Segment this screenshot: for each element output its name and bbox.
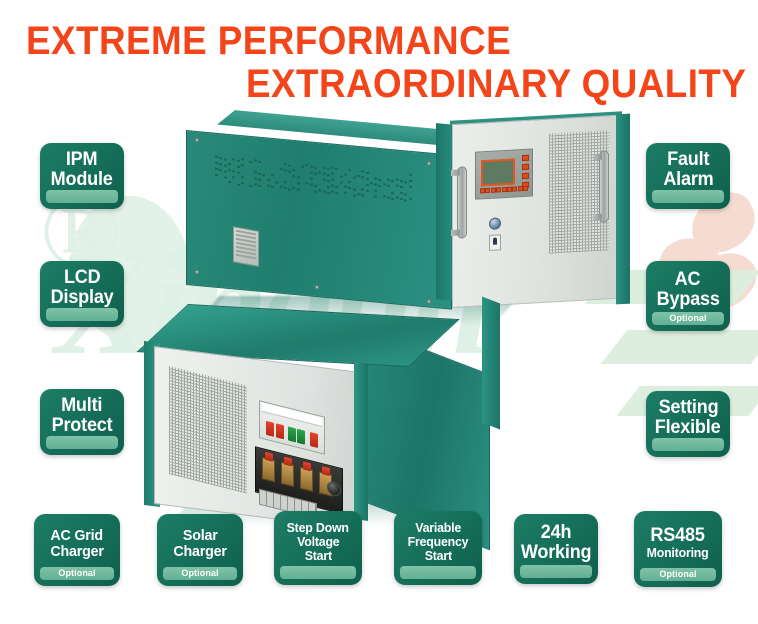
lcd-button[interactable] (522, 173, 529, 179)
badge-accent-bar (46, 190, 118, 203)
badge-text-line: AC Grid (51, 528, 104, 544)
badge-text-line: Monitoring (647, 546, 709, 560)
optional-badge-bar: Optional (652, 312, 724, 325)
badge-label-group: FaultAlarm (646, 150, 730, 190)
screw-icon (427, 161, 431, 165)
badge-text-line: RS485 (651, 526, 705, 546)
bottom-unit-frame-right (354, 363, 368, 521)
badge-text-line: Multi (61, 396, 102, 416)
badge-label-group: VariableFrequencyStart (394, 518, 482, 566)
badge-text-line: Bypass (656, 290, 719, 310)
badge-text-line: 24h (541, 523, 572, 543)
badge-text-line: Step Down (287, 521, 349, 535)
badge-text-line: Solar (183, 528, 218, 544)
top-unit-vent-holes (215, 156, 415, 209)
screw-icon (195, 270, 199, 274)
optional-badge-bar: Optional (640, 568, 716, 581)
breaker-switch[interactable] (288, 426, 296, 442)
headline-line-2: EXTRAORDINARY QUALITY (246, 62, 746, 106)
badge-text-line: Fault (667, 150, 709, 170)
power-connector-icon (489, 217, 501, 230)
badge-text-line: Alarm (663, 170, 713, 190)
feature-badge-variable-frequency-start[interactable]: VariableFrequencyStart (394, 511, 482, 585)
badge-label-group: Step DownVoltageStart (274, 518, 362, 566)
badge-text-line: Protect (52, 416, 113, 436)
product-image-inverter-rear (150, 304, 570, 524)
badge-accent-bar (520, 565, 592, 578)
badge-accent-bar (46, 436, 118, 449)
badge-text-line: Charger (173, 544, 226, 560)
feature-badge-ac-grid-charger[interactable]: AC GridChargerOptional (34, 514, 120, 586)
badge-accent-bar (652, 438, 724, 451)
feature-badge-ipm-module[interactable]: IPMModule (40, 143, 124, 209)
lcd-screen (481, 158, 515, 186)
bottom-unit-rear-panel (154, 346, 362, 530)
badge-accent-bar (400, 566, 476, 579)
terminal-lug (262, 457, 275, 482)
feature-badge-solar-charger[interactable]: SolarChargerOptional (157, 514, 243, 586)
badge-text-line: IPM (66, 150, 98, 170)
breaker-switch[interactable] (266, 421, 274, 437)
optional-label: Optional (659, 570, 696, 579)
screw-icon (195, 138, 199, 142)
feature-badge-rs485-monitoring[interactable]: RS485MonitoringOptional (634, 511, 722, 587)
badge-text-line: Flexible (655, 418, 721, 438)
terminal-lug (281, 462, 294, 487)
badge-accent-bar (652, 190, 724, 203)
badge-label-group: AC GridCharger (34, 521, 120, 567)
badge-accent-bar (46, 308, 118, 321)
optional-badge-bar: Optional (40, 567, 114, 580)
breaker-switch[interactable] (310, 432, 318, 448)
badge-text-line: Voltage (297, 535, 339, 549)
optional-label: Optional (669, 314, 706, 323)
lcd-button[interactable] (522, 164, 529, 170)
badge-label-group: LCDDisplay (40, 268, 124, 308)
lcd-display-module (475, 148, 533, 199)
badge-text-line: Variable (415, 521, 461, 535)
badge-text-line: Start (304, 549, 331, 563)
product-image-inverter-front (186, 128, 634, 318)
badge-label-group: SettingFlexible (646, 398, 730, 438)
badge-text-line: Display (51, 288, 114, 308)
top-unit-side-panel (186, 130, 452, 310)
handle-icon (599, 150, 609, 223)
handle-icon (457, 166, 467, 239)
headline-line-1: EXTREME PERFORMANCE (26, 19, 511, 63)
top-unit-front-panel (452, 115, 620, 308)
feature-badge-lcd-display[interactable]: LCDDisplay (40, 261, 124, 327)
feature-badge-24h-working[interactable]: 24hWorking (514, 514, 598, 584)
optional-label: Optional (58, 569, 95, 578)
feature-badge-setting-flexible[interactable]: SettingFlexible (646, 391, 730, 457)
badge-text-line: Setting (658, 398, 718, 418)
badge-text-line: Charger (50, 544, 103, 560)
badge-text-line: LCD (64, 268, 101, 288)
badge-label-group: ACBypass (646, 268, 730, 312)
badge-label-group: RS485Monitoring (634, 518, 722, 568)
badge-text-line: AC (675, 270, 701, 290)
badge-text-line: Start (424, 549, 451, 563)
badge-text-line: Working (521, 543, 592, 563)
terminal-lug (300, 467, 313, 492)
optional-badge-bar: Optional (163, 567, 237, 580)
badge-label-group: 24hWorking (514, 521, 598, 565)
screw-icon (315, 285, 319, 289)
lcd-button-row[interactable] (480, 186, 530, 196)
badge-text-line: Module (51, 170, 113, 190)
feature-badge-multi-protect[interactable]: MultiProtect (40, 389, 124, 455)
optional-label: Optional (181, 569, 218, 578)
top-unit-rail-right (616, 114, 630, 305)
circuit-breaker-block (259, 400, 325, 455)
ventilation-grille (169, 366, 247, 494)
feature-badge-ac-bypass[interactable]: ACBypassOptional (646, 261, 730, 331)
bottom-unit-rail-right (482, 297, 500, 430)
lcd-button[interactable] (522, 155, 529, 161)
top-unit-spec-nameplate (233, 226, 259, 267)
feature-badge-fault-alarm[interactable]: FaultAlarm (646, 143, 730, 209)
badge-label-group: MultiProtect (40, 396, 124, 436)
badge-label-group: SolarCharger (157, 521, 243, 567)
badge-accent-bar (280, 566, 356, 579)
warning-label-icon (489, 234, 501, 251)
badge-text-line: Frequency (408, 535, 469, 549)
badge-label-group: IPMModule (40, 150, 124, 190)
feature-badge-step-down-voltage-start[interactable]: Step DownVoltageStart (274, 511, 362, 585)
breaker-switch[interactable] (297, 429, 305, 445)
breaker-switch[interactable] (276, 423, 284, 439)
